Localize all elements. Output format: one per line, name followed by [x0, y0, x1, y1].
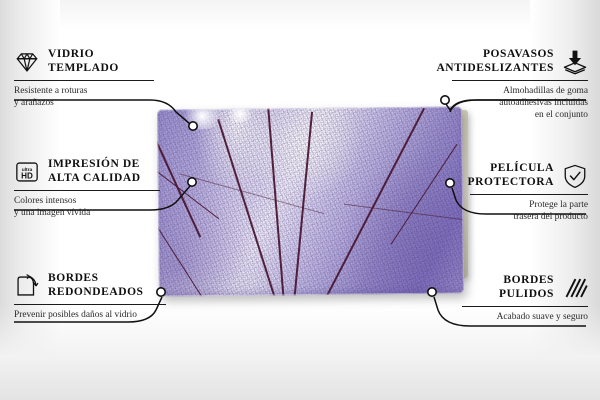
- feature-description: Resistente a roturasy arañazos: [14, 85, 154, 109]
- feature-description: Protege la partetrasera del producto: [470, 199, 588, 223]
- shield-check-icon: [562, 163, 588, 189]
- feature-description: Prevenir posibles daños al vidrio: [14, 309, 166, 321]
- feature-bordes-pulidos[interactable]: BORDESPULIDOS Acabado suave y seguro: [462, 274, 588, 323]
- feature-divider: [470, 194, 588, 195]
- feature-title: BORDESPULIDOS: [499, 274, 554, 301]
- feature-title: PELÍCULAPROTECTORA: [468, 162, 554, 189]
- feature-divider: [462, 306, 588, 307]
- svg-text:HD: HD: [21, 171, 33, 180]
- feature-impresion-alta-calidad[interactable]: ultra HD IMPRESIÓN DEALTA CALIDAD Colore…: [14, 158, 160, 219]
- diamond-icon: [14, 49, 40, 75]
- ultra-hd-icon: ultra HD: [14, 159, 40, 185]
- infographic-canvas: VIDRIOTEMPLADO Resistente a roturasy ara…: [0, 0, 600, 400]
- feature-title: VIDRIOTEMPLADO: [48, 48, 119, 75]
- product-glass-board: [157, 106, 464, 296]
- feature-divider: [14, 190, 160, 191]
- feature-title: POSAVASOSANTIDESLIZANTES: [436, 48, 554, 75]
- feature-vidrio-templado[interactable]: VIDRIOTEMPLADO Resistente a roturasy ara…: [14, 48, 154, 109]
- feature-pelicula-protectora[interactable]: PELÍCULAPROTECTORA Protege la partetrase…: [470, 162, 588, 223]
- feature-title: BORDESREDONDEADOS: [48, 272, 144, 299]
- feature-divider: [452, 80, 588, 81]
- feature-description: Acabado suave y seguro: [462, 311, 588, 323]
- rounded-corner-icon: [14, 273, 40, 299]
- diagonal-lines-icon: [562, 275, 588, 301]
- product-image: [150, 80, 470, 320]
- feature-title: IMPRESIÓN DEALTA CALIDAD: [48, 158, 141, 185]
- arrow-onto-pads-icon: [562, 49, 588, 75]
- background-vignette-top: [0, 0, 600, 30]
- glass-edge-highlight: [157, 106, 464, 296]
- feature-divider: [14, 304, 166, 305]
- feature-posavasos-antideslizantes[interactable]: POSAVASOSANTIDESLIZANTES Almohadillas de…: [452, 48, 588, 122]
- feature-description: Almohadillas de gomaautoadhesivas inclui…: [452, 85, 588, 122]
- feature-description: Colores intensosy una imagen vívida: [14, 195, 160, 219]
- feature-bordes-redondeados[interactable]: BORDESREDONDEADOS Prevenir posibles daño…: [14, 272, 166, 321]
- feature-divider: [14, 80, 154, 81]
